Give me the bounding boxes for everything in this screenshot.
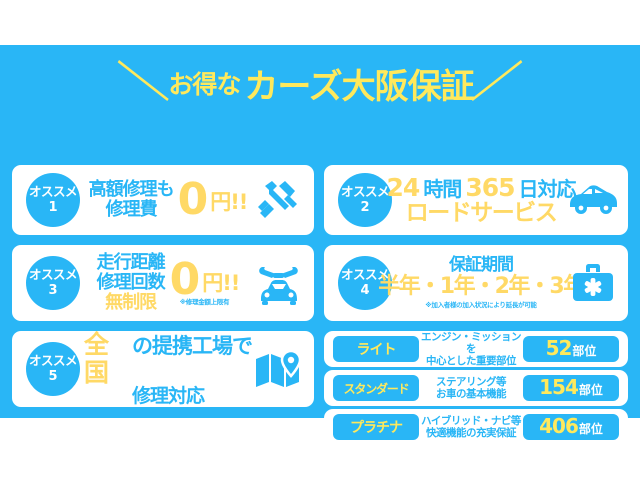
plan-desc-line1: ハイブリッド・ナビ等 — [421, 415, 521, 427]
plan-row-platinum: プラチナ ハイブリッド・ナビ等 快適機能の充実保証 406 部位 — [324, 409, 628, 445]
panel-3-line1: 走行距離 — [97, 253, 165, 273]
panel-4-line1: 保証期間 — [449, 256, 513, 275]
badge-label: オススメ — [341, 186, 389, 199]
promo-banner: ＼ お得な カーズ大阪保証 ／ オススメ 1 高額修理も 修理費 0 円!! — [0, 45, 640, 418]
panel-3-body: 走行距離 修理回数 無制限 0 円!! ※修理金額上限有 — [84, 245, 252, 321]
panel-5-line2: 修理対応 — [132, 386, 204, 407]
panel-4-body: 保証期間 半年・1年・2年・3年 ※加入者様の加入状況により延長が可能 — [396, 245, 566, 321]
badge-label: オススメ — [29, 355, 77, 368]
plan-description: エンジン・ミッションを 中心とした重要部位 — [419, 331, 523, 367]
plan-count-unit: 部位 — [579, 420, 603, 437]
panel-5-body: 全国 の提携工場で 修理対応 — [84, 331, 252, 407]
feature-panel-3: オススメ 3 走行距離 修理回数 無制限 0 円!! ※修理金額上限有 — [12, 245, 314, 321]
plan-description: ステアリング等 お車の基本機能 — [419, 376, 523, 400]
badge-number: 1 — [48, 201, 57, 214]
recommend-badge-3: オススメ 3 — [26, 256, 80, 310]
panel-3-yen: 円!! — [202, 272, 239, 295]
badge-number: 2 — [360, 201, 369, 214]
headline-small-text: お得な — [166, 65, 242, 101]
recommend-badge-2: オススメ 2 — [338, 173, 392, 227]
plan-name-pill: スタンダード — [333, 375, 419, 401]
feature-panel-2: オススメ 2 24 時間 365 日対応 ロードサービス — [324, 165, 628, 235]
recommend-badge-5: オススメ 5 — [26, 342, 80, 396]
panel-4-note: ※加入者様の加入状況により延長が可能 — [425, 302, 536, 309]
headline-slash-left: ＼ — [118, 62, 172, 104]
panel-3-zero: 0 — [170, 260, 199, 300]
plan-desc-line1: ステアリング等 — [421, 376, 521, 388]
plan-description: ハイブリッド・ナビ等 快適機能の充実保証 — [419, 415, 523, 439]
panel-5-highlight: 全国 — [84, 331, 128, 386]
plan-desc-line2: お車の基本機能 — [421, 388, 521, 400]
car-wrench-icon — [252, 260, 306, 306]
panel-4-line2: 半年・1年・2年・3年 — [378, 275, 583, 299]
hammer-tools-icon — [252, 177, 306, 223]
plan-desc-line2: 中心とした重要部位 — [421, 355, 521, 367]
feature-panel-4: オススメ 4 保証期間 半年・1年・2年・3年 ※加入者様の加入状況により延長が… — [324, 245, 628, 321]
plan-count-number: 154 — [539, 375, 578, 399]
feature-panel-1: オススメ 1 高額修理も 修理費 0 円!! — [12, 165, 314, 235]
panel-1-body: 高額修理も 修理費 0 円!! — [84, 165, 252, 235]
badge-number: 3 — [48, 284, 57, 297]
map-pin-icon — [252, 346, 306, 392]
badge-number: 5 — [48, 370, 57, 383]
panel-5-line1-rest: の提携工場で — [132, 335, 252, 358]
plan-row-standard: スタンダード ステアリング等 お車の基本機能 154 部位 — [324, 370, 628, 406]
panel-1-yen: 円!! — [210, 186, 247, 216]
headline-main-text: カーズ大阪保証 — [244, 59, 473, 108]
feature-panel-5: オススメ 5 全国 の提携工場で 修理対応 — [12, 331, 314, 407]
plan-name-pill: プラチナ — [333, 414, 419, 440]
plan-name-pill: ライト — [333, 336, 419, 362]
plan-desc-line2: 快適機能の充実保証 — [421, 427, 521, 439]
banner-headline: ＼ お得な カーズ大阪保証 ／ — [0, 61, 640, 105]
panel-2-hours: 24 — [387, 174, 420, 202]
panel-3-line2: 修理回数 — [97, 273, 165, 293]
plan-count-number: 52 — [546, 336, 572, 360]
badge-label: オススメ — [29, 186, 77, 199]
panel-2-days: 365 — [465, 174, 514, 202]
badge-label: オススメ — [29, 269, 77, 282]
panel-2-hours-unit: 時間 — [423, 178, 461, 200]
plan-count-unit: 部位 — [579, 381, 603, 398]
plan-count-badge: 406 部位 — [523, 414, 619, 440]
plan-count-number: 406 — [539, 414, 578, 438]
plan-count-badge: 52 部位 — [523, 336, 619, 362]
panel-3-note: ※修理金額上限有 — [180, 299, 229, 306]
plan-desc-line1: エンジン・ミッションを — [421, 331, 521, 355]
medical-kit-icon — [566, 260, 620, 306]
panel-1-line2: 修理費 — [106, 200, 157, 220]
badge-number: 4 — [360, 284, 369, 297]
car-icon — [566, 177, 620, 223]
panel-1-zero: 0 — [178, 180, 207, 220]
plan-count-unit: 部位 — [572, 342, 596, 359]
panel-1-line1: 高額修理も — [89, 180, 174, 200]
panel-2-body: 24 時間 365 日対応 ロードサービス — [396, 165, 566, 235]
panel-3-line3: 無制限 — [105, 293, 156, 313]
panel-2-line2: ロードサービス — [406, 201, 557, 226]
headline-slash-right: ／ — [469, 62, 523, 104]
plan-count-badge: 154 部位 — [523, 375, 619, 401]
plan-row-light: ライト エンジン・ミッションを 中心とした重要部位 52 部位 — [324, 331, 628, 367]
recommend-badge-1: オススメ 1 — [26, 173, 80, 227]
